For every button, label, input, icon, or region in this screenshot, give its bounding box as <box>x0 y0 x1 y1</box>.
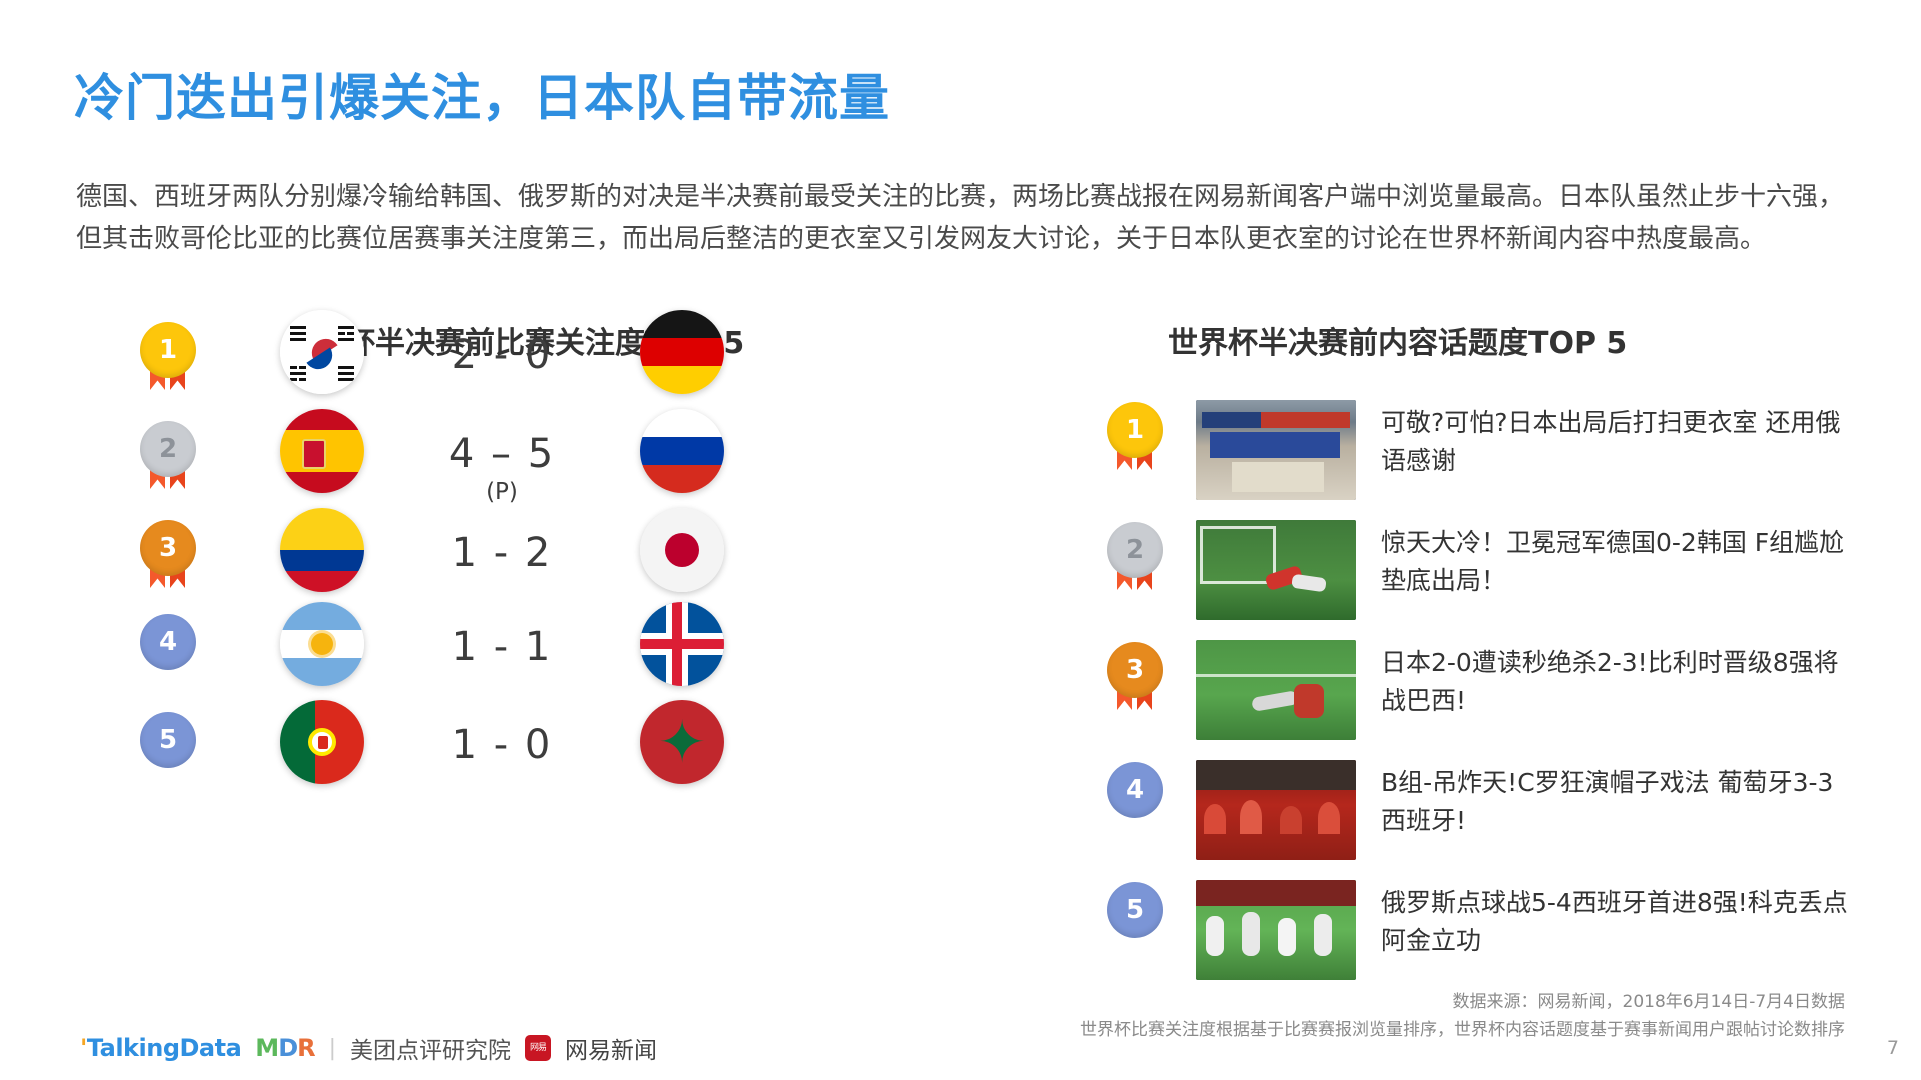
topic-title[interactable]: 日本2-0遭读秒绝杀2-3!比利时晋级8强将战巴西! <box>1381 644 1851 720</box>
rank-badge-matches-1: 1 <box>140 322 206 388</box>
source-line-1: 数据来源：网易新闻，2018年6月14日-7月4日数据 <box>1080 988 1845 1016</box>
rank-badge-matches-4: 4 <box>140 614 206 680</box>
score-value: 2 - 0 <box>452 332 553 378</box>
topic-thumbnail-celebration-photo <box>1196 880 1356 980</box>
match-score: 1 - 0 <box>392 722 612 768</box>
score-value: 1 - 2 <box>452 530 553 576</box>
home-flag-korea-flag <box>280 310 364 394</box>
home-flag-spain-flag <box>280 409 364 493</box>
rank-badge-matches-3: 3 <box>140 520 206 586</box>
away-flag-iceland-flag <box>640 602 724 686</box>
meituan-research-logo: 美团点评研究院 <box>350 1031 511 1065</box>
home-flag-argentina-flag <box>280 602 364 686</box>
rank-number: 1 <box>1107 402 1163 458</box>
right-column-heading: 世界杯半决赛前内容话题度TOP 5 <box>1168 318 1627 362</box>
netease-news-logo: 网易新闻 <box>565 1031 657 1065</box>
rank-number: 3 <box>140 520 196 576</box>
rank-number: 4 <box>1107 762 1163 818</box>
away-flag-germany-flag <box>640 310 724 394</box>
score-value: 1 - 1 <box>452 624 553 670</box>
topic-title[interactable]: 可敬?可怕?日本出局后打扫更衣室 还用俄语感谢 <box>1381 404 1851 480</box>
rank-badge-topics-1: 1 <box>1107 402 1173 468</box>
logo-separator: | <box>329 1036 336 1061</box>
match-score: 4 – 5(P) <box>392 431 612 505</box>
topic-title[interactable]: B组-吊炸天!C罗狂演帽子戏法 葡萄牙3-3西班牙! <box>1381 764 1851 840</box>
rank-number: 5 <box>1107 882 1163 938</box>
rank-badge-topics-5: 5 <box>1107 882 1173 948</box>
mdr-logo: MDR <box>255 1034 314 1062</box>
rank-badge-topics-3: 3 <box>1107 642 1173 708</box>
rank-badge-matches-2: 2 <box>140 421 206 487</box>
footer-logo-bar: 'TalkingData MDR | 美团点评研究院 网易 网易新闻 <box>80 1031 657 1065</box>
match-score: 1 - 1 <box>392 624 612 670</box>
topic-title[interactable]: 俄罗斯点球战5-4西班牙首进8强!科克丢点阿金立功 <box>1381 884 1851 960</box>
home-flag-colombia-flag <box>280 508 364 592</box>
topic-thumbnail-locker-room-photo <box>1196 400 1356 500</box>
rank-number: 3 <box>1107 642 1163 698</box>
rank-number: 2 <box>140 421 196 477</box>
topic-title[interactable]: 惊天大冷！卫冕冠军德国0-2韩国 F组尴尬垫底出局！ <box>1381 524 1851 600</box>
away-flag-russia-flag <box>640 409 724 493</box>
rank-badge-topics-2: 2 <box>1107 522 1173 588</box>
away-flag-morocco-flag: ✦ <box>640 700 724 784</box>
rank-number: 5 <box>140 712 196 768</box>
rank-badge-matches-5: 5 <box>140 712 206 778</box>
score-value: 1 - 0 <box>452 722 553 768</box>
page-number: 7 <box>1887 1037 1899 1059</box>
source-line-2: 世界杯比赛关注度根据基于比赛赛报浏览量排序，世界杯内容话题度基于赛事新闻用户跟帖… <box>1080 1016 1845 1044</box>
talkingdata-logo: 'TalkingData <box>80 1034 241 1062</box>
topic-thumbnail-goal-save-photo <box>1196 520 1356 620</box>
away-flag-japan-flag <box>640 508 724 592</box>
netease-mark-icon: 网易 <box>525 1035 551 1061</box>
topic-thumbnail-pitch-players-photo <box>1196 640 1356 740</box>
rank-number: 4 <box>140 614 196 670</box>
data-source-note: 数据来源：网易新闻，2018年6月14日-7月4日数据 世界杯比赛关注度根据基于… <box>1080 988 1845 1044</box>
home-flag-portugal-flag <box>280 700 364 784</box>
page-title: 冷门迭出引爆关注，日本队自带流量 <box>74 58 890 130</box>
match-score: 2 - 0 <box>392 332 612 378</box>
rank-badge-topics-4: 4 <box>1107 762 1173 828</box>
match-score: 1 - 2 <box>392 530 612 576</box>
score-note: (P) <box>392 479 612 505</box>
intro-paragraph: 德国、西班牙两队分别爆冷输给韩国、俄罗斯的对决是半决赛前最受关注的比赛，两场比赛… <box>76 176 1844 260</box>
topic-thumbnail-red-crowd-photo <box>1196 760 1356 860</box>
rank-number: 2 <box>1107 522 1163 578</box>
rank-number: 1 <box>140 322 196 378</box>
score-value: 4 – 5 <box>449 431 555 477</box>
